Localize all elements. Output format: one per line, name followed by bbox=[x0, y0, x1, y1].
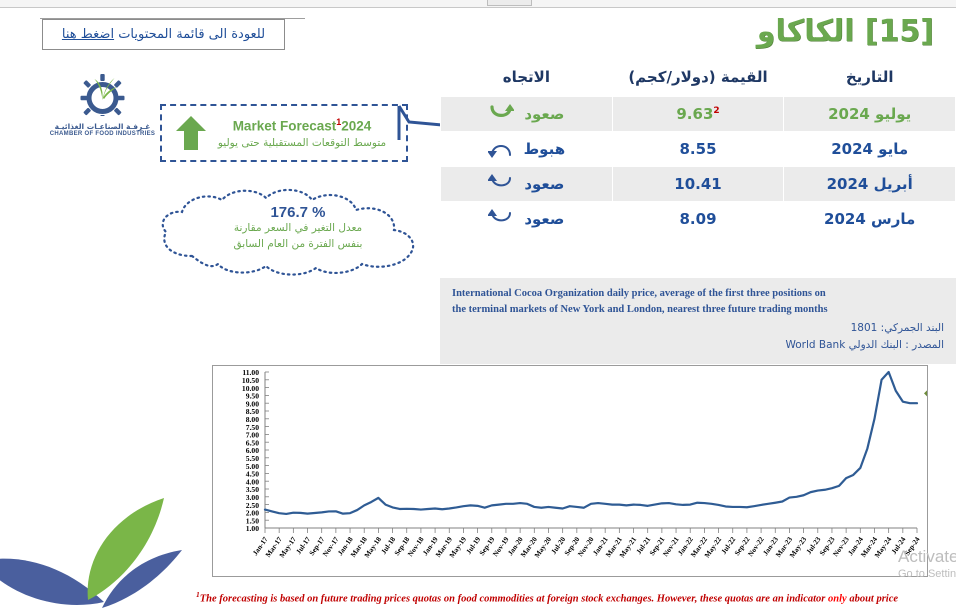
svg-text:7.50: 7.50 bbox=[246, 423, 259, 432]
trend-up-arrow-icon bbox=[488, 174, 514, 194]
column-header-date: التاريخ bbox=[784, 62, 956, 97]
customs-code-line: البند الجمركي: 1801 bbox=[452, 320, 944, 337]
table-row[interactable]: مارس 2024 8.09 صعود bbox=[441, 202, 956, 237]
svg-text:8.00: 8.00 bbox=[246, 415, 259, 424]
svg-text:10.00: 10.00 bbox=[242, 384, 259, 393]
forecast-footnote: 1The forecasting is based on future trad… bbox=[196, 590, 956, 605]
price-table-container: التاريخ القيمة (دولار/كجم) الاتجاه يوليو… bbox=[440, 62, 956, 237]
cell-date: مايو 2024 bbox=[784, 132, 956, 167]
source-note-en-line-2: the terminal markets of New York and Lon… bbox=[452, 302, 944, 318]
trend-label: صعود bbox=[524, 105, 564, 123]
price-change-percent: 176.7 % bbox=[152, 204, 444, 221]
column-header-value: القيمة (دولار/كجم) bbox=[612, 62, 784, 97]
svg-text:9.50: 9.50 bbox=[246, 392, 259, 401]
decorative-leaves-graphic bbox=[0, 468, 216, 610]
chamber-logo: غـرفـة الصناعـات الغذائيـة CHAMBER OF FO… bbox=[40, 72, 165, 134]
slide-canvas: للعودة الى قائمة المحتويات اضغط هنا bbox=[0, 0, 956, 610]
footnote-text-after: about price bbox=[847, 594, 898, 605]
trend-label: صعود bbox=[524, 210, 564, 228]
svg-text:10.50: 10.50 bbox=[242, 376, 259, 385]
watermark-subtitle: Go to Settings bbox=[898, 567, 956, 581]
cloud-text-block: 176.7 % معدل التغير في السعر مقارنة بنفس… bbox=[152, 204, 444, 253]
cell-value: 9.632 bbox=[612, 97, 784, 132]
svg-text:1.00: 1.00 bbox=[246, 524, 259, 533]
svg-text:5.00: 5.00 bbox=[246, 462, 259, 471]
price-history-chart: 1.001.502.002.503.003.504.004.505.005.50… bbox=[212, 365, 928, 577]
trend-up-arrow-icon bbox=[488, 104, 514, 124]
svg-text:2.50: 2.50 bbox=[246, 501, 259, 510]
cell-date: مارس 2024 bbox=[784, 202, 956, 237]
table-row[interactable]: يوليو 2024 9.632 صعود bbox=[441, 97, 956, 132]
svg-text:7.00: 7.00 bbox=[246, 431, 259, 440]
source-line: المصدر : البنك الدولي World Bank bbox=[452, 337, 944, 354]
footnote-text-before: The forecasting is based on future tradi… bbox=[200, 594, 828, 605]
up-arrow-icon bbox=[174, 114, 208, 152]
svg-text:9.00: 9.00 bbox=[246, 399, 259, 408]
svg-text:8.50: 8.50 bbox=[246, 407, 259, 416]
forecast-title-main: Market Forecast bbox=[233, 119, 337, 134]
forecast-title-year: 2024 bbox=[341, 119, 371, 134]
cloud-caption-line-2: بنفس الفترة من العام السابق bbox=[152, 237, 444, 253]
cell-value-number: 9.63 bbox=[676, 105, 713, 123]
svg-text:5.50: 5.50 bbox=[246, 454, 259, 463]
trend-up-arrow-icon bbox=[488, 209, 514, 229]
cell-date: أبريل 2024 bbox=[784, 167, 956, 202]
cell-value: 10.41 bbox=[612, 167, 784, 202]
page-title: [15] الكاكاو bbox=[757, 14, 934, 49]
cell-value-number: 8.55 bbox=[680, 140, 717, 158]
leaf-icon bbox=[0, 468, 216, 610]
back-link-anchor[interactable]: اضغط هنا bbox=[62, 27, 114, 42]
source-note-en-line-1: International Cocoa Organization daily p… bbox=[452, 286, 944, 302]
cell-value: 8.09 bbox=[612, 202, 784, 237]
cell-trend: هبوط bbox=[441, 132, 613, 167]
trend-down-arrow-icon bbox=[488, 139, 514, 159]
market-forecast-box: Market Forecast12024 متوسط التوقعات المس… bbox=[160, 104, 408, 162]
trend-label: صعود bbox=[524, 175, 564, 193]
logo-caption-arabic: غـرفـة الصناعـات الغذائيـة bbox=[40, 122, 165, 131]
svg-text:6.00: 6.00 bbox=[246, 446, 259, 455]
top-strip-tab[interactable] bbox=[487, 0, 532, 6]
app-top-strip bbox=[0, 0, 956, 8]
footnote-highlight: only bbox=[828, 594, 847, 605]
svg-text:4.00: 4.00 bbox=[246, 477, 259, 486]
svg-text:1.50: 1.50 bbox=[246, 516, 259, 525]
cell-value-footnote-marker: 2 bbox=[713, 106, 719, 116]
cell-value-number: 10.41 bbox=[674, 175, 721, 193]
watermark-title: Activate Windows bbox=[898, 548, 956, 567]
svg-text:4.50: 4.50 bbox=[246, 470, 259, 479]
logo-caption-english: CHAMBER OF FOOD INDUSTRIES bbox=[40, 131, 165, 137]
chart-plot-area: 1.001.502.002.503.003.504.004.505.005.50… bbox=[213, 366, 927, 576]
source-note-panel: International Cocoa Organization daily p… bbox=[440, 278, 956, 364]
price-table-body: يوليو 2024 9.632 صعود bbox=[441, 97, 956, 237]
cell-trend: صعود bbox=[441, 202, 613, 237]
svg-text:3.00: 3.00 bbox=[246, 493, 259, 502]
svg-text:6.50: 6.50 bbox=[246, 438, 259, 447]
price-change-cloud: 176.7 % معدل التغير في السعر مقارنة بنفس… bbox=[152, 186, 444, 278]
cell-value-number: 8.09 bbox=[680, 210, 717, 228]
back-link-prefix: للعودة الى قائمة المحتويات bbox=[114, 27, 265, 42]
table-row[interactable]: مايو 2024 8.55 هبوط bbox=[441, 132, 956, 167]
cell-trend: صعود bbox=[441, 167, 613, 202]
cell-trend: صعود bbox=[441, 97, 613, 132]
activate-windows-watermark: Activate Windows Go to Settings bbox=[898, 548, 956, 581]
table-header-row: التاريخ القيمة (دولار/كجم) الاتجاه bbox=[441, 62, 956, 97]
svg-text:11.00: 11.00 bbox=[242, 368, 259, 377]
table-row[interactable]: أبريل 2024 10.41 صعود bbox=[441, 167, 956, 202]
svg-text:2.00: 2.00 bbox=[246, 509, 259, 518]
price-table: التاريخ القيمة (دولار/كجم) الاتجاه يوليو… bbox=[440, 62, 956, 237]
chamber-logo-icon bbox=[40, 72, 165, 116]
column-header-trend: الاتجاه bbox=[441, 62, 613, 97]
cell-value: 8.55 bbox=[612, 132, 784, 167]
cloud-caption-line-1: معدل التغير في السعر مقارنة bbox=[152, 221, 444, 237]
back-to-contents-label: للعودة الى قائمة المحتويات اضغط هنا bbox=[62, 27, 265, 42]
market-forecast-subtitle: متوسط التوقعات المستقبلية حتى يوليو bbox=[208, 137, 396, 149]
svg-text:3.50: 3.50 bbox=[246, 485, 259, 494]
trend-label: هبوط bbox=[524, 140, 566, 158]
market-forecast-title: Market Forecast12024 bbox=[208, 117, 396, 134]
cell-date: يوليو 2024 bbox=[784, 97, 956, 132]
market-forecast-texts: Market Forecast12024 متوسط التوقعات المس… bbox=[208, 117, 406, 149]
back-to-contents-button[interactable]: للعودة الى قائمة المحتويات اضغط هنا bbox=[42, 19, 285, 50]
